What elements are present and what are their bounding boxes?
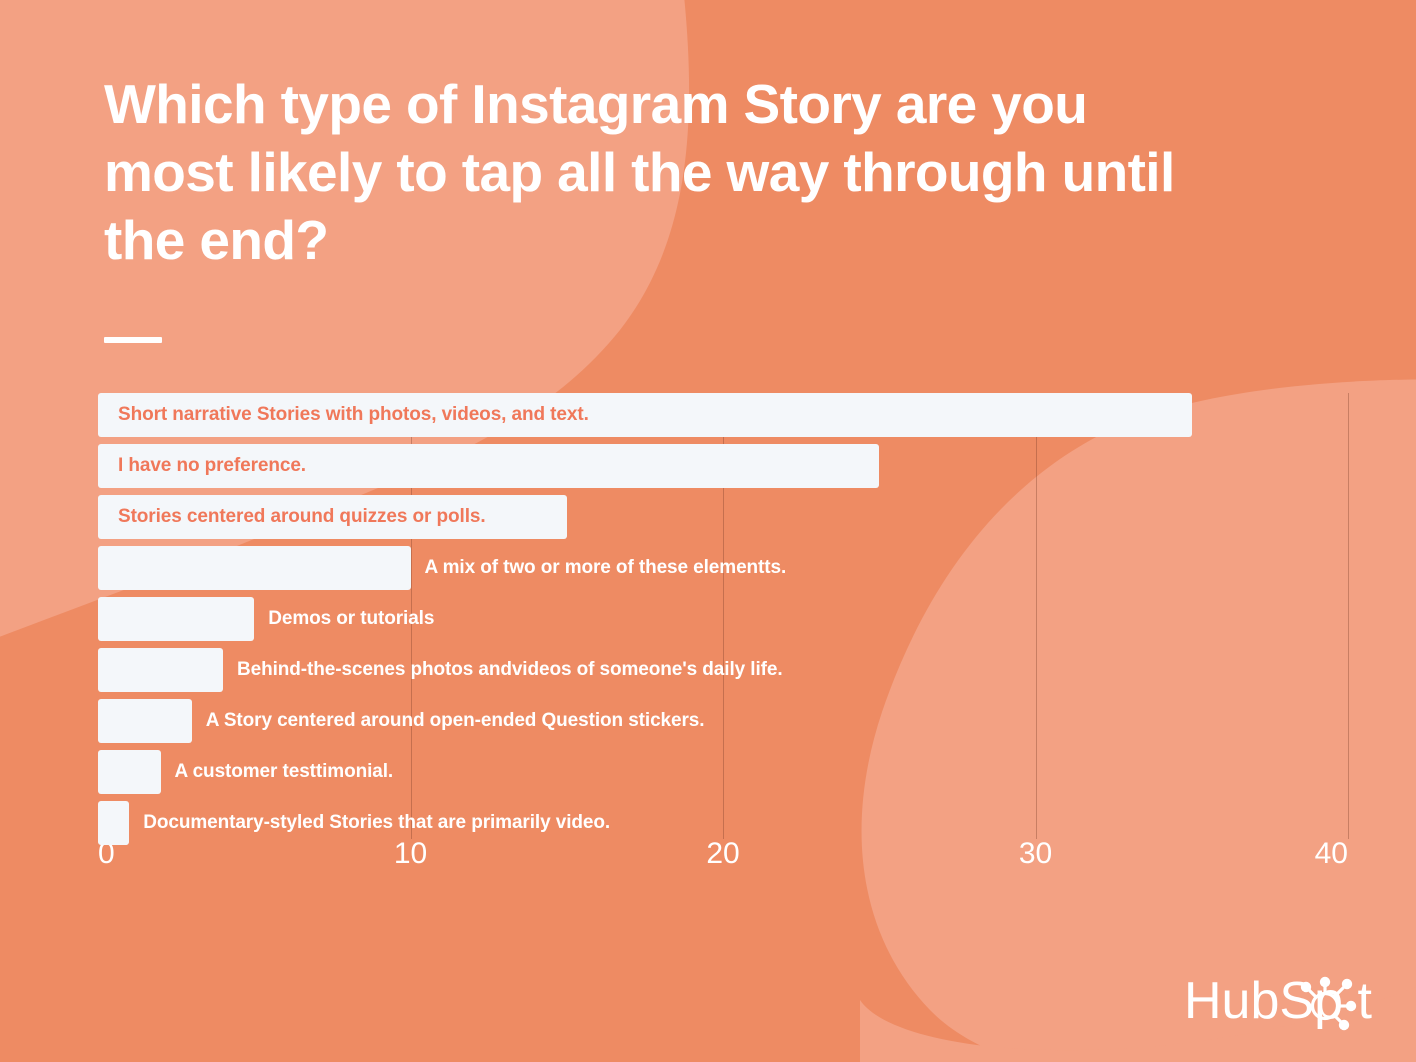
bar-category-label: Stories centered around quizzes or polls… <box>98 506 486 528</box>
bar-category-label: A Story centered around open-ended Quest… <box>192 710 705 732</box>
bar <box>98 801 129 845</box>
bar: Stories centered around quizzes or polls… <box>98 495 567 539</box>
x-axis-tick-label: 30 <box>1019 836 1052 872</box>
bar <box>98 597 254 641</box>
bar-category-label: Documentary-styled Stories that are prim… <box>129 812 610 834</box>
bar-row: Documentary-styled Stories that are prim… <box>98 801 610 845</box>
bar-category-label: Short narrative Stories with photos, vid… <box>98 404 589 426</box>
x-axis-tick-label: 20 <box>706 836 739 872</box>
bar-row: Behind-the-scenes photos andvideos of so… <box>98 648 783 692</box>
hubspot-logo-mark: HubSp t <box>1184 972 1384 1032</box>
bar <box>98 750 161 794</box>
gridline-30 <box>1036 393 1037 839</box>
bar-category-label: I have no preference. <box>98 455 306 477</box>
bar-row: Demos or tutorials <box>98 597 434 641</box>
bar-row: Stories centered around quizzes or polls… <box>98 495 567 539</box>
hubspot-logo: HubSp t <box>1184 972 1384 1032</box>
bar-chart: 010203040Short narrative Stories with ph… <box>0 0 1416 1062</box>
bar: Short narrative Stories with photos, vid… <box>98 393 1192 437</box>
x-axis-tick-label: 40 <box>1315 836 1348 872</box>
gridline-40 <box>1348 393 1349 839</box>
bar-row: I have no preference. <box>98 444 879 488</box>
bar <box>98 546 411 590</box>
bar <box>98 648 223 692</box>
bar: I have no preference. <box>98 444 879 488</box>
bar-category-label: A mix of two or more of these elementts. <box>411 557 787 579</box>
bar-category-label: A customer testtimonial. <box>161 761 394 783</box>
bar <box>98 699 192 743</box>
bar-row: A Story centered around open-ended Quest… <box>98 699 704 743</box>
bar-category-label: Behind-the-scenes photos andvideos of so… <box>223 659 783 681</box>
bar-row: Short narrative Stories with photos, vid… <box>98 393 1192 437</box>
bar-row: A customer testtimonial. <box>98 750 393 794</box>
bar-category-label: Demos or tutorials <box>254 608 434 630</box>
bar-row: A mix of two or more of these elementts. <box>98 546 786 590</box>
